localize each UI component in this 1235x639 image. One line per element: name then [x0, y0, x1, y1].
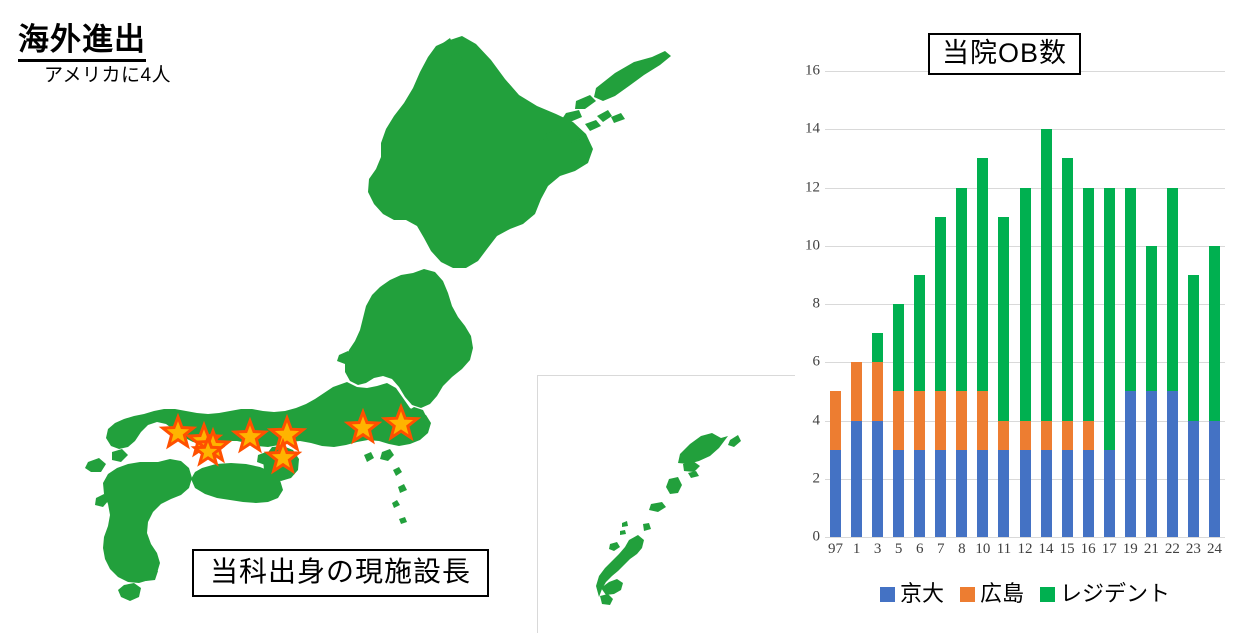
- bar-segment: [1020, 421, 1031, 450]
- legend-item[interactable]: 京大: [880, 583, 944, 605]
- legend-swatch-icon: [960, 587, 975, 602]
- bar-segment: [893, 391, 904, 449]
- bar-segment: [1041, 421, 1052, 450]
- bar-segment: [1188, 421, 1199, 538]
- bar-segment: [1146, 246, 1157, 392]
- bar-segment: [1209, 246, 1220, 421]
- ob-count-chart-panel: 当院OB数 0246810121416 97135678101112141516…: [780, 0, 1235, 634]
- bar-segment: [914, 391, 925, 449]
- chart-title: 当院OB数: [928, 33, 1081, 75]
- slide-root: 海外進出 アメリカに4人: [0, 0, 1235, 634]
- gridline-0: [825, 537, 1225, 538]
- bar-segment: [851, 362, 862, 420]
- bar-segment: [893, 304, 904, 391]
- bar-segment: [830, 450, 841, 537]
- bar-segment: [1188, 275, 1199, 421]
- okinawa-landmass: [596, 433, 741, 605]
- bar-segment: [1062, 158, 1073, 420]
- bar-segment: [1041, 129, 1052, 420]
- bar-segment: [1041, 450, 1052, 537]
- legend-item[interactable]: レジデント: [1040, 583, 1170, 605]
- bar-segment: [914, 275, 925, 392]
- chart-plot-area: 0246810121416: [825, 71, 1225, 537]
- bar-segment: [1083, 450, 1094, 537]
- bar-segment: [956, 450, 967, 537]
- bar-segment: [998, 217, 1009, 421]
- legend-label: 京大: [900, 583, 944, 605]
- bar-segment: [872, 421, 883, 538]
- legend-label: レジデント: [1060, 583, 1170, 605]
- bar-segment: [872, 333, 883, 362]
- bar-segment: [1083, 421, 1094, 450]
- bar-segment: [1020, 450, 1031, 537]
- y-axis-tick-16: 16: [778, 63, 820, 80]
- bar-segment: [935, 217, 946, 392]
- bar-segment: [1020, 188, 1031, 421]
- chart-legend: 京大広島レジデント: [825, 583, 1225, 605]
- facility-director-label: 当科出身の現施設長: [192, 549, 489, 597]
- bar-segment: [1104, 188, 1115, 450]
- bar-segment: [1209, 421, 1220, 538]
- y-axis-tick-8: 8: [778, 296, 820, 313]
- legend-item[interactable]: 広島: [960, 583, 1024, 605]
- legend-swatch-icon: [1040, 587, 1055, 602]
- y-axis-tick-14: 14: [778, 121, 820, 138]
- bar-segment: [1146, 391, 1157, 537]
- legend-swatch-icon: [880, 587, 895, 602]
- bar-segment: [1062, 450, 1073, 537]
- bar-segment: [998, 421, 1009, 450]
- bar-segment: [956, 391, 967, 449]
- bar-segment: [1083, 188, 1094, 421]
- bar-segment: [977, 158, 988, 391]
- bar-segment: [851, 421, 862, 538]
- bar-segment: [872, 362, 883, 420]
- y-axis-tick-4: 4: [778, 412, 820, 429]
- bar-segment: [1062, 421, 1073, 450]
- y-axis-tick-12: 12: [778, 179, 820, 196]
- y-axis-tick-6: 6: [778, 354, 820, 371]
- bar-segment: [1125, 391, 1136, 537]
- y-axis-tick-10: 10: [778, 237, 820, 254]
- bar-segment: [935, 450, 946, 537]
- x-axis-label: 24: [1201, 541, 1227, 558]
- bar-segment: [1167, 188, 1178, 392]
- bar-segment: [1125, 188, 1136, 392]
- bar-segment: [956, 188, 967, 392]
- bar-segment: [893, 450, 904, 537]
- chart-x-axis: 97135678101112141516171921222324: [825, 541, 1225, 565]
- bar-segment: [977, 391, 988, 449]
- bar-segment: [830, 391, 841, 449]
- bar-segment: [998, 450, 1009, 537]
- bar-segment: [935, 391, 946, 449]
- bar-segment: [1104, 450, 1115, 537]
- bar-segment: [977, 450, 988, 537]
- bar-segment: [914, 450, 925, 537]
- bar-segment: [1167, 391, 1178, 537]
- okinawa-inset-box: [537, 375, 795, 633]
- y-axis-tick-2: 2: [778, 470, 820, 487]
- chart-bars: [825, 71, 1225, 537]
- y-axis-tick-0: 0: [778, 529, 820, 546]
- japan-map-panel: 海外進出 アメリカに4人: [0, 0, 800, 634]
- legend-label: 広島: [980, 583, 1024, 605]
